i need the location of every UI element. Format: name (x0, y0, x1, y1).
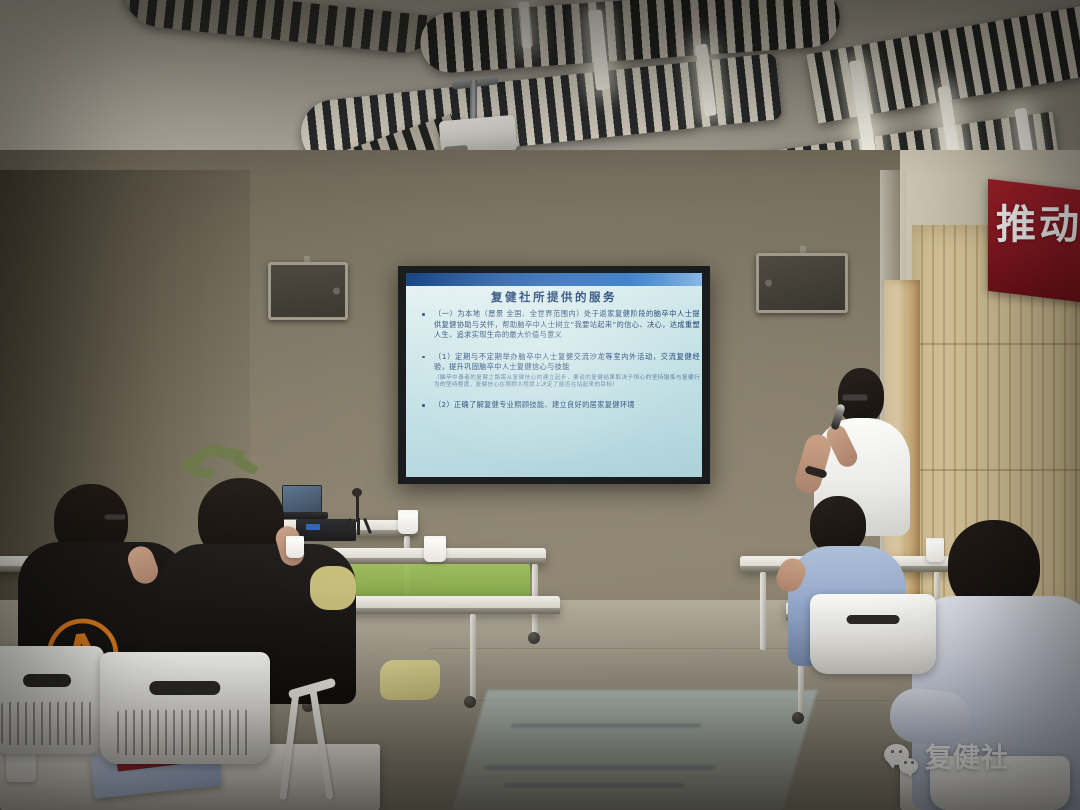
chair[interactable] (810, 594, 936, 674)
slide-bullet: （1）定期与不定期举办脑卒中人士复健交流沙龙等室内外活动，交流复健经验，提升巩固… (418, 352, 700, 390)
slide-bullet: （2）正确了解复健专业照顾技能、建立良好的居家复健环境 (418, 400, 700, 411)
banner-text: 推动 (996, 203, 1080, 247)
table-leg (760, 572, 766, 650)
table-caster (528, 632, 540, 644)
chair[interactable] (100, 652, 270, 764)
paper-cup (286, 536, 304, 558)
slide-body: （一）为本地（愿景 全国、全世界范围内）处于返家复健阶段的脑卒中人士提供复健协助… (418, 309, 700, 422)
attendee-item (310, 566, 356, 610)
wall-speaker-right (756, 253, 848, 313)
wechat-icon (884, 744, 918, 774)
seminar-room-photo: 推动 复健社所提供的服务 （一）为本地（愿景 全国、全世界范围内）处于返家复健阶… (0, 0, 1080, 810)
table-caster (792, 712, 804, 724)
slide-bullet-subtext: （脑卒中患者的复健之路需从复健信心的建立起步，要谈的复健结果取决于恒心的坚持锻炼… (434, 375, 700, 390)
chair[interactable] (0, 646, 104, 754)
wall-speaker-left (268, 262, 348, 320)
speaker-cone-icon (765, 280, 772, 287)
chair-back (810, 594, 936, 674)
slide-bullet-text: （2）正确了解复健专业照顾技能、建立良好的居家复健环境 (434, 400, 635, 409)
slide-bullet-text: （一）为本地（愿景 全国、全世界范围内）处于返家复健阶段的脑卒中人士提供复健协助… (434, 309, 700, 339)
table-caster (464, 696, 476, 708)
paper-cup (424, 536, 446, 562)
slide-header-bar (406, 273, 702, 286)
red-banner: 推动 (988, 179, 1080, 303)
glasses-icon (104, 514, 126, 520)
projection-screen: 复健社所提供的服务 （一）为本地（愿景 全国、全世界范围内）处于返家复健阶段的脑… (398, 266, 710, 484)
chair-vents (1, 702, 92, 745)
chair-handle-slot (149, 681, 220, 694)
glasses-icon (842, 394, 868, 401)
chair-handle-slot (847, 615, 900, 625)
slide-surface: 复健社所提供的服务 （一）为本地（愿景 全国、全世界范围内）处于返家复健阶段的脑… (406, 273, 702, 477)
watermark: 复健社 (884, 744, 1009, 774)
slide-bullet: （一）为本地（愿景 全国、全世界范围内）处于返家复健阶段的脑卒中人士提供复健协助… (418, 309, 700, 341)
speaker-cone-icon (333, 288, 340, 295)
watermark-account-name: 复健社 (925, 744, 1009, 774)
projector-mount-pole (470, 80, 477, 120)
slide-title: 复健社所提供的服务 (406, 289, 702, 305)
slide-bullet-text: （1）定期与不定期举办脑卒中人士复健交流沙龙等室内外活动，交流复健经验，提升巩固… (434, 352, 700, 372)
table-leg (470, 614, 476, 700)
slide-floor-reflection (453, 690, 817, 810)
paper-cup (398, 510, 418, 534)
chair-vents (117, 710, 253, 755)
yellow-bag (380, 660, 440, 700)
chair-handle-slot (23, 674, 71, 687)
